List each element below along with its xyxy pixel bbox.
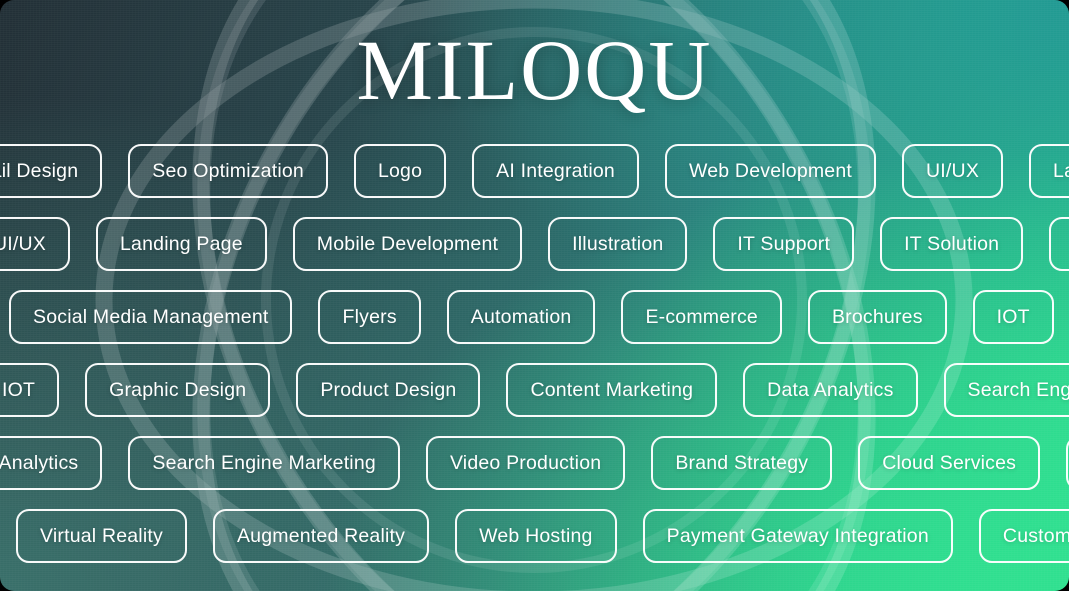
service-tag[interactable]: Video Production: [426, 436, 625, 490]
service-tag[interactable]: Mobile Development: [293, 217, 522, 271]
service-tag[interactable]: Automation: [447, 290, 596, 344]
content-layer: MILOQU Email DesignSeo OptimizationLogoA…: [0, 0, 1069, 591]
service-tag[interactable]: Customer Support: [979, 509, 1069, 563]
service-tag[interactable]: Cloud Services: [858, 436, 1040, 490]
service-tag[interactable]: Web Hosting: [455, 509, 616, 563]
service-tag[interactable]: Graphic Design: [85, 363, 270, 417]
tag-row-5: Data AnalyticsSearch Engine MarketingVid…: [0, 436, 1069, 490]
service-tag[interactable]: Payment Gateway Integration: [643, 509, 953, 563]
service-tag[interactable]: Virtual Reality: [16, 509, 187, 563]
tag-row-2: UI/UXLanding PageMobile DevelopmentIllus…: [0, 217, 1069, 271]
tag-row-1: Email DesignSeo OptimizationLogoAI Integ…: [0, 144, 1069, 198]
service-tag-cloud: Email DesignSeo OptimizationLogoAI Integ…: [0, 140, 1069, 591]
service-tag[interactable]: Flyers: [318, 290, 420, 344]
promo-canvas: MILOQU Email DesignSeo OptimizationLogoA…: [0, 0, 1069, 591]
service-tag[interactable]: Content Marketing: [506, 363, 717, 417]
service-tag[interactable]: Logo: [354, 144, 446, 198]
service-tag[interactable]: Search Engine Marketing: [944, 363, 1069, 417]
service-tag[interactable]: Landing Page: [96, 217, 267, 271]
service-tag[interactable]: Search Engine Marketing: [128, 436, 400, 490]
service-tag[interactable]: Social Media Management: [9, 290, 292, 344]
service-tag[interactable]: IOT: [973, 290, 1054, 344]
service-tag[interactable]: Illustration: [548, 217, 687, 271]
service-tag[interactable]: Brand Strategy: [651, 436, 832, 490]
service-tag[interactable]: CRM: [1049, 217, 1069, 271]
tag-row-4: IOTGraphic DesignProduct DesignContent M…: [0, 363, 1069, 417]
service-tag[interactable]: Data Analytics: [0, 436, 102, 490]
tag-row-6: Virtual RealityAugmented RealityWeb Host…: [16, 509, 1069, 563]
tag-row-3: Social Media ManagementFlyersAutomationE…: [9, 290, 1069, 344]
service-tag[interactable]: AI Integration: [472, 144, 639, 198]
service-tag[interactable]: IT Support: [713, 217, 854, 271]
brand-header: MILOQU: [0, 0, 1069, 140]
service-tag[interactable]: Web Development: [665, 144, 876, 198]
service-tag[interactable]: IT Solution: [880, 217, 1023, 271]
service-tag[interactable]: E-commerce: [621, 290, 782, 344]
service-tag[interactable]: Augmented Reality: [213, 509, 429, 563]
service-tag[interactable]: Email Design: [0, 144, 102, 198]
service-tag[interactable]: Product Design: [296, 363, 480, 417]
service-tag[interactable]: Seo Optimization: [128, 144, 328, 198]
service-tag[interactable]: IOT: [0, 363, 59, 417]
brand-wordmark: MILOQU: [357, 27, 713, 113]
service-tag[interactable]: Brochures: [808, 290, 947, 344]
service-tag[interactable]: Data Analytics: [743, 363, 917, 417]
service-tag[interactable]: Landing Page: [1029, 144, 1069, 198]
service-tag[interactable]: UI/UX: [0, 217, 70, 271]
service-tag[interactable]: UI/UX: [902, 144, 1003, 198]
